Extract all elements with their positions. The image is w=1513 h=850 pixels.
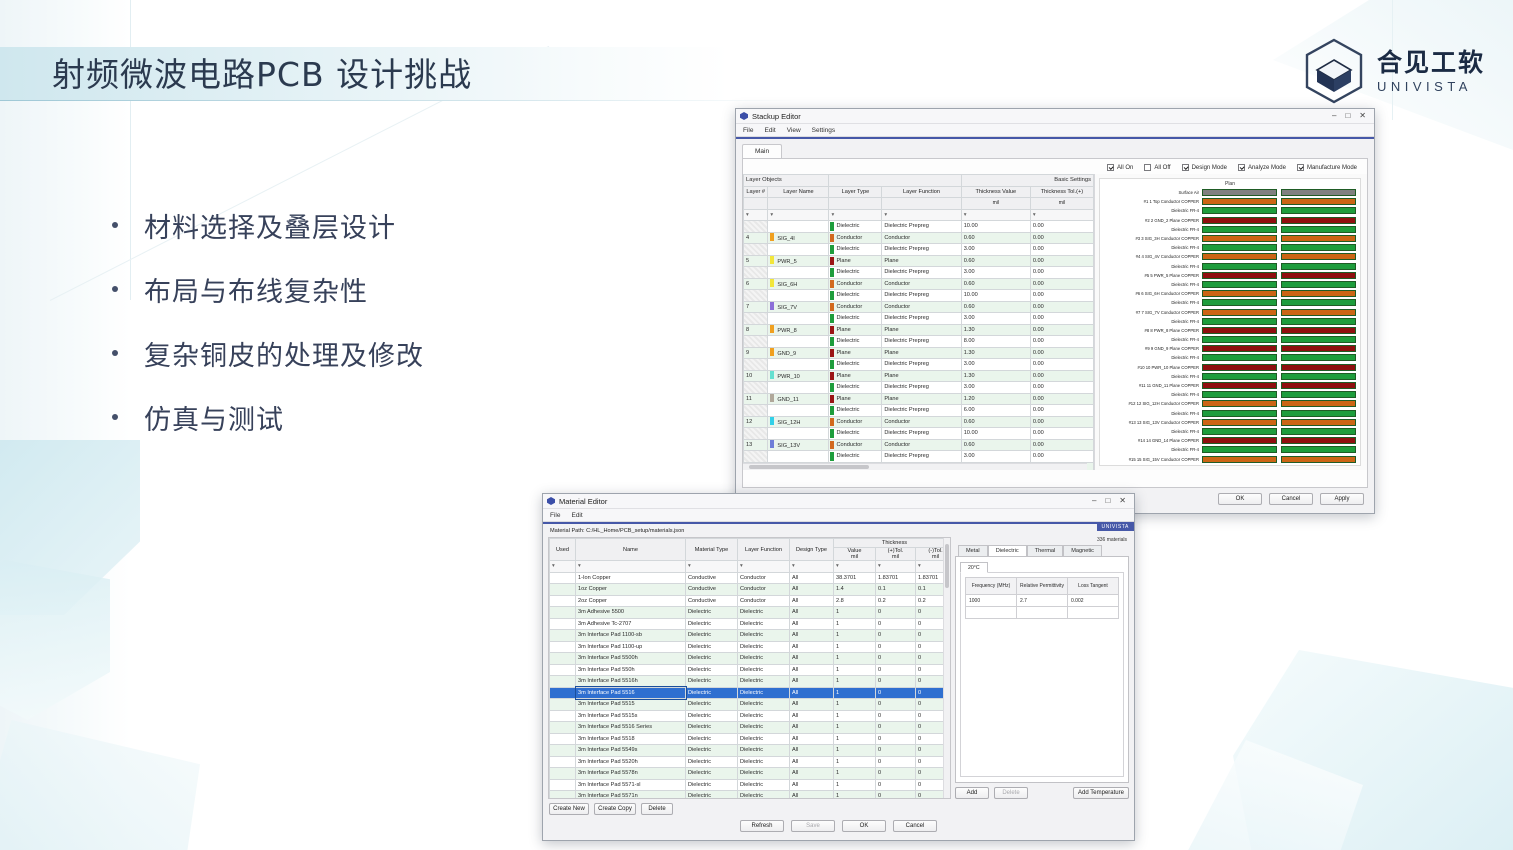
cell-layer-function: Conductor [882,416,961,428]
refresh-button[interactable]: Refresh [740,820,784,832]
cell-layer-name[interactable] [768,382,829,394]
table-row[interactable]: 9GND_9PlanePlane1.300.00 [744,347,1094,359]
apply-button[interactable]: Apply [1320,493,1364,505]
cell-thickness-tol[interactable]: 0.00 [1030,313,1093,325]
cell-used[interactable] [550,756,576,768]
cell-thickness-value[interactable]: 1.30 [961,324,1030,336]
close-icon[interactable]: ✕ [1119,497,1126,505]
cell-thickness-value[interactable]: 0.60 [961,439,1030,451]
add-temperature-button[interactable]: Add Temperature [1073,787,1129,799]
cell-material-name[interactable]: 1-Ion Copper [576,572,686,584]
cell-layer-type: Conductor [829,301,882,313]
material-list-buttons[interactable]: Create New Create Copy Delete [543,799,1134,815]
column-header-tol-plus[interactable]: (+)Tol.mil [876,548,916,561]
mode-checkbox-row[interactable]: All On All Off Design Mode Analyze Mode … [743,159,1367,174]
filter-cell[interactable]: ▾ [576,561,686,573]
checkbox-box-icon[interactable] [1238,164,1245,171]
cell-thickness-value[interactable]: 1 [834,768,876,780]
cell-used[interactable] [550,745,576,757]
filter-cell[interactable]: ▾ [876,561,916,573]
cell-used[interactable] [550,733,576,745]
filter-cell[interactable]: ▾ [834,561,876,573]
cell-thickness-value[interactable]: 1.30 [961,370,1030,382]
cell-tol-plus[interactable]: 0 [876,687,916,699]
property-empty-row[interactable] [966,607,1119,619]
cell-material-name[interactable]: 3m Interface Pad 5516 Series [576,722,686,734]
cell-thickness-tol[interactable]: 0.00 [1030,347,1093,359]
cell-thickness-tol[interactable]: 0.00 [1030,232,1093,244]
cell-material-name[interactable]: 3m Interface Pad 5516 [576,687,686,699]
cell-thickness-tol[interactable]: 0.00 [1030,416,1093,428]
column-header[interactable]: Thickness Tol.(+) [1030,186,1093,198]
preview-layer-row: #15 15 SIG_15V Conductor COPPER [1104,454,1356,463]
checkbox-design-mode[interactable]: Design Mode [1182,164,1227,171]
table-row[interactable]: 3m Interface Pad 5516hDielectricDielectr… [550,676,952,688]
cell-thickness-value[interactable]: 3.00 [961,382,1030,394]
property-cell-empty[interactable] [1068,607,1119,619]
cell-thickness-value[interactable]: 1 [834,676,876,688]
layer-table-hscrollbar[interactable] [743,463,1087,470]
table-row[interactable]: 3m Interface Pad 1100-upDielectricDielec… [550,641,952,653]
cancel-button[interactable]: Cancel [893,820,937,832]
table-row[interactable]: 3m Interface Pad 5515sDielectricDielectr… [550,710,952,722]
minimize-icon[interactable]: – [1092,497,1096,505]
cell-used[interactable] [550,572,576,584]
cell-used[interactable] [550,768,576,780]
stackup-menu-bar[interactable]: File Edit View Settings [736,124,1374,137]
property-cell-empty[interactable] [966,607,1017,619]
table-row[interactable]: 3m Interface Pad 5571-slDielectricDielec… [550,779,952,791]
cell-material-name[interactable]: 3m Interface Pad 5549s [576,745,686,757]
cell-layer-function: Dielectric [738,676,790,688]
filter-cell[interactable]: ▾ [744,209,768,221]
checkbox-manufacture-mode[interactable]: Manufacture Mode [1297,164,1357,171]
close-icon[interactable]: ✕ [1359,112,1366,120]
cell-layer-name[interactable] [768,244,829,256]
layer-table-container[interactable]: Layer ObjectsBasic SettingsLayer #Layer … [743,174,1095,470]
cell-thickness-value[interactable]: 1 [834,756,876,768]
cell-layer-name[interactable] [768,428,829,440]
cell-thickness-tol[interactable]: 0.00 [1030,255,1093,267]
table-row[interactable]: 3m Interface Pad 5578nDielectricDielectr… [550,768,952,780]
column-header-layer-function[interactable]: Layer Function [738,539,790,561]
table-row[interactable]: DielectricDielectric Prepreg3.000.00 [744,313,1094,325]
preview-layer-bar [1281,327,1356,334]
filter-cell[interactable]: ▾ [961,209,1030,221]
cell-tol-plus[interactable]: 0 [876,756,916,768]
property-cell-empty[interactable] [1017,607,1068,619]
cell-layer-type: Dielectric [829,359,882,371]
cell-tol-plus[interactable]: 0 [876,676,916,688]
table-row[interactable]: DielectricDielectric Prepreg3.000.00 [744,244,1094,256]
table-row[interactable]: 12SIG_12HConductorConductor0.600.00 [744,416,1094,428]
cell-thickness-value[interactable]: 6.00 [961,405,1030,417]
cell-layer-name[interactable] [768,267,829,279]
cell-layer-name[interactable]: SIG_13V [768,439,829,451]
table-row[interactable]: 3m Interface Pad 5516 SeriesDielectricDi… [550,722,952,734]
column-header[interactable]: Layer Function [882,186,961,198]
cell-thickness-value[interactable]: 1 [834,630,876,642]
cell-thickness-tol[interactable]: 0.00 [1030,278,1093,290]
cell-layer-name[interactable]: GND_9 [768,347,829,359]
tab-temperature-20c[interactable]: 20°C [960,562,988,573]
menu-settings[interactable]: Settings [812,127,836,134]
cell-thickness-tol[interactable]: 0.00 [1030,244,1093,256]
stackup-tab-strip[interactable]: Main [736,139,1374,158]
menu-view[interactable]: View [787,127,801,134]
cell-thickness-tol[interactable]: 0.00 [1030,267,1093,279]
cell-layer-name[interactable] [768,359,829,371]
property-cell[interactable]: 1000 [966,595,1017,607]
cell-thickness-tol[interactable]: 0.00 [1030,451,1093,463]
cell-layer-name[interactable] [768,451,829,463]
cell-thickness-value[interactable]: 10.00 [961,290,1030,302]
create-new-button[interactable]: Create New [549,803,589,815]
table-row[interactable]: 11GND_11PlanePlane1.200.00 [744,393,1094,405]
table-row[interactable]: DielectricDielectric Prepreg3.000.00 [744,359,1094,371]
cell-material-name[interactable]: 3m Interface Pad 1100-sb [576,630,686,642]
table-row[interactable]: DielectricDielectric Prepreg3.000.00 [744,267,1094,279]
column-header-design-type[interactable]: Design Type [790,539,834,561]
cell-layer-name[interactable]: PWR_5 [768,255,829,267]
property-column-header: Relative Permittivity [1017,578,1068,595]
cell-material-name[interactable]: 3m Interface Pad 5500h [576,653,686,665]
preview-layer-bar [1281,217,1356,224]
cell-used[interactable] [550,607,576,619]
cell-thickness-tol[interactable]: 0.00 [1030,439,1093,451]
tab-main[interactable]: Main [742,144,782,158]
cell-layer-function: Dielectric Prepreg [882,221,961,233]
cell-thickness-value[interactable]: 1.30 [961,347,1030,359]
cell-layer-function: Plane [882,370,961,382]
cell-tol-plus[interactable]: 0 [876,710,916,722]
tab-dielectric[interactable]: Dielectric [988,545,1027,556]
cell-material-name[interactable]: 3m Interface Pad 5518 [576,733,686,745]
cell-tol-plus[interactable]: 0 [876,653,916,665]
table-row[interactable]: 3m Interface Pad 5516DielectricDielectri… [550,687,952,699]
tab-magnetic[interactable]: Magnetic [1063,545,1102,556]
cell-thickness-tol[interactable]: 0.00 [1030,382,1093,394]
cell-tol-plus[interactable]: 0 [876,768,916,780]
cell-thickness-tol[interactable]: 0.00 [1030,324,1093,336]
filter-cell[interactable]: ▾ [1030,209,1093,221]
table-row[interactable]: 2oz CopperConductiveConductorAll2.80.20.… [550,595,952,607]
column-header[interactable]: Layer Type [829,186,882,198]
column-header[interactable]: Thickness Value [961,186,1030,198]
table-row[interactable]: 1oz CopperConductiveConductorAll1.40.10.… [550,584,952,596]
cell-thickness-value[interactable]: 1 [834,745,876,757]
preview-layer-bar [1202,373,1277,380]
property-cell[interactable]: 2.7 [1017,595,1068,607]
cell-tol-plus[interactable]: 0.2 [876,595,916,607]
table-row[interactable]: 5PWR_5PlanePlane0.600.00 [744,255,1094,267]
table-row[interactable]: 6SIG_6HConductorConductor0.600.00 [744,278,1094,290]
property-pane-buttons[interactable]: Add Delete Add Temperature [955,783,1129,799]
column-header[interactable]: Layer Name [768,186,829,198]
table-row[interactable]: 3m Interface Pad 5520hDielectricDielectr… [550,756,952,768]
cell-material-name[interactable]: 3m Interface Pad 5515 [576,699,686,711]
minimize-icon[interactable]: – [1332,112,1336,120]
menu-edit[interactable]: Edit [571,512,582,519]
material-footer-buttons[interactable]: Refresh Save OK Cancel [543,815,1134,832]
property-cell[interactable]: 0.002 [1068,595,1119,607]
stackup-editor-window[interactable]: Stackup Editor – □ ✕ File Edit View Sett… [735,108,1375,514]
cell-thickness-value[interactable]: 1 [834,664,876,676]
cell-thickness-tol[interactable]: 0.00 [1030,336,1093,348]
cell-material-name[interactable]: 2oz Copper [576,595,686,607]
table-row[interactable]: DielectricDielectric Prepreg10.000.00 [744,221,1094,233]
table-row[interactable]: DielectricDielectric Prepreg10.000.00 [744,428,1094,440]
checkbox-box-icon[interactable] [1297,164,1304,171]
filter-cell[interactable]: ▾ [738,561,790,573]
cell-material-name[interactable]: 3m Interface Pad 5578n [576,768,686,780]
cell-thickness-value[interactable]: 8.00 [961,336,1030,348]
tab-thermal[interactable]: Thermal [1027,545,1064,556]
cell-used[interactable] [550,653,576,665]
cell-used[interactable] [550,618,576,630]
checkbox-box-icon[interactable] [1182,164,1189,171]
cell-tol-plus[interactable]: 0 [876,779,916,791]
stackup-title-bar[interactable]: Stackup Editor – □ ✕ [736,109,1374,124]
menu-file[interactable]: File [743,127,753,134]
cell-tol-plus[interactable]: 0 [876,733,916,745]
column-header-value[interactable]: Valuemil [834,548,876,561]
dielectric-property-table[interactable]: Frequency (MHz)Relative PermittivityLoss… [965,577,1119,619]
cell-thickness-value[interactable]: 1 [834,722,876,734]
cell-material-name[interactable]: 3m Interface Pad 5516h [576,676,686,688]
cell-thickness-value[interactable]: 10.00 [961,428,1030,440]
cell-material-name[interactable]: 3m Interface Pad 5515s [576,710,686,722]
cell-thickness-value[interactable]: 1.4 [834,584,876,596]
cell-tol-plus[interactable]: 0 [876,641,916,653]
table-row[interactable]: DielectricDielectric Prepreg6.000.00 [744,405,1094,417]
cell-thickness-tol[interactable]: 0.00 [1030,290,1093,302]
cell-thickness-value[interactable]: 10.00 [961,221,1030,233]
cell-layer-name[interactable]: GND_11 [768,393,829,405]
property-row[interactable]: 10002.70.002 [966,595,1119,607]
cell-used[interactable] [550,791,576,800]
cell-material-name[interactable]: 3m Adhesive Tc-2707 [576,618,686,630]
ok-button[interactable]: OK [1218,493,1262,505]
cell-layer-name[interactable] [768,336,829,348]
checkbox-analyze-mode[interactable]: Analyze Mode [1238,164,1286,171]
cell-used[interactable] [550,722,576,734]
maximize-icon[interactable]: □ [1345,112,1350,120]
table-row[interactable]: 3m Interface Pad 5549sDielectricDielectr… [550,745,952,757]
column-header[interactable]: Layer # [744,186,768,198]
table-row[interactable]: 1-Ion CopperConductiveConductorAll38.370… [550,572,952,584]
app-icon [547,497,555,505]
cell-thickness-value[interactable]: 0.60 [961,416,1030,428]
cell-tol-plus[interactable]: 0.1 [876,584,916,596]
cell-used[interactable] [550,641,576,653]
table-row[interactable]: 3m Interface Pad 5500hDielectricDielectr… [550,653,952,665]
cancel-button[interactable]: Cancel [1269,493,1313,505]
table-row[interactable]: 3m Adhesive 5500DielectricDielectricAll1… [550,607,952,619]
cell-used[interactable] [550,584,576,596]
checkbox-box-icon[interactable] [1107,164,1114,171]
cell-layer-name[interactable]: SIG_4I [768,232,829,244]
cell-tol-plus[interactable]: 0 [876,630,916,642]
cell-tol-plus[interactable]: 0 [876,791,916,800]
material-title-bar[interactable]: Material Editor – □ ✕ [543,494,1134,509]
cell-thickness-tol[interactable]: 0.00 [1030,370,1093,382]
cell-thickness-value[interactable]: 0.60 [961,232,1030,244]
cell-thickness-value[interactable]: 1 [834,607,876,619]
preview-layer-row: #3 3 SIG_3H Conductor COPPER [1104,234,1356,243]
bullet-text: 复杂铜皮的处理及修改 [144,334,424,373]
column-header-used[interactable]: Used [550,539,576,561]
table-row[interactable]: 4SIG_4IConductorConductor0.600.00 [744,232,1094,244]
material-table-vscrollbar[interactable] [943,538,950,798]
cell-thickness-tol[interactable]: 0.00 [1030,359,1093,371]
cell-thickness-value[interactable]: 1 [834,791,876,800]
cell-thickness-value[interactable]: 3.00 [961,451,1030,463]
checkbox-all-off[interactable]: All Off [1144,164,1170,171]
cell-layer-name[interactable]: SIG_12H [768,416,829,428]
column-header-name[interactable]: Name [576,539,686,561]
cell-used[interactable] [550,710,576,722]
tab-metal[interactable]: Metal [958,545,988,556]
material-editor-window[interactable]: Material Editor – □ ✕ File Edit UNIVISTA… [542,493,1135,841]
ok-button[interactable]: OK [842,820,886,832]
cell-thickness-value[interactable]: 1 [834,687,876,699]
cell-material-name[interactable]: 3m Adhesive 5500 [576,607,686,619]
create-copy-button[interactable]: Create Copy [594,803,636,815]
cell-thickness-value[interactable]: 3.00 [961,359,1030,371]
table-row[interactable]: DielectricDielectric Prepreg10.000.00 [744,290,1094,302]
cell-tol-plus[interactable]: 0 [876,722,916,734]
cell-layer-name[interactable] [768,290,829,302]
table-row[interactable]: DielectricDielectric Prepreg8.000.00 [744,336,1094,348]
material-table-container[interactable]: UsedNameMaterial TypeLayer FunctionDesig… [548,537,951,799]
delete-material-button[interactable]: Delete [641,803,673,815]
property-tab-strip[interactable]: Metal Dielectric Thermal Magnetic [955,545,1129,556]
cell-thickness-value[interactable]: 1 [834,710,876,722]
cell-thickness-value[interactable]: 1.20 [961,393,1030,405]
filter-cell[interactable]: ▾ [790,561,834,573]
cell-layer-name[interactable] [768,313,829,325]
cell-thickness-tol[interactable]: 0.00 [1030,428,1093,440]
cell-tol-plus[interactable]: 0 [876,618,916,630]
maximize-icon[interactable]: □ [1105,497,1110,505]
menu-edit[interactable]: Edit [764,127,775,134]
table-row[interactable]: 13SIG_13VConductorConductor0.600.00 [744,439,1094,451]
cell-material-name[interactable]: 1oz Copper [576,584,686,596]
cell-layer-name[interactable]: PWR_10 [768,370,829,382]
cell-used[interactable] [550,595,576,607]
filter-cell[interactable]: ▾ [882,209,961,221]
table-row[interactable]: 10PWR_10PlanePlane1.300.00 [744,370,1094,382]
cell-thickness-value[interactable]: 1 [834,733,876,745]
cell-thickness-value[interactable]: 3.00 [961,313,1030,325]
material-menu-bar[interactable]: File Edit [543,509,1134,522]
cell-tol-plus[interactable]: 0 [876,699,916,711]
cell-layer-name[interactable]: SIG_6H [768,278,829,290]
cell-material-type: Dielectric [686,756,738,768]
cell-tol-plus[interactable]: 1.83701 [876,572,916,584]
cell-thickness-tol[interactable]: 0.00 [1030,393,1093,405]
layer-table[interactable]: Layer ObjectsBasic SettingsLayer #Layer … [743,174,1094,470]
cell-thickness-value[interactable]: 0.60 [961,301,1030,313]
cell-layer-name[interactable] [768,221,829,233]
cell-material-name[interactable]: 3m Interface Pad 550h [576,664,686,676]
cell-thickness-value[interactable]: 1 [834,779,876,791]
filter-cell[interactable]: ▾ [686,561,738,573]
cell-thickness-value[interactable]: 3.00 [961,244,1030,256]
cell-layer-name[interactable] [768,405,829,417]
table-row[interactable]: 3m Adhesive Tc-2707DielectricDielectricA… [550,618,952,630]
preview-layer-label: Dielectric FR-4 [1104,282,1202,287]
cell-thickness-tol[interactable]: 0.00 [1030,301,1093,313]
table-row[interactable]: 3m Interface Pad 5518DielectricDielectri… [550,733,952,745]
filter-cell[interactable]: ▾ [768,209,829,221]
cell-used[interactable] [550,699,576,711]
delete-button[interactable]: Delete [994,787,1028,799]
checkbox-all-on[interactable]: All On [1107,164,1133,171]
cell-tol-plus[interactable]: 0 [876,664,916,676]
cell-design-type: All [790,779,834,791]
table-row[interactable]: 3m Interface Pad 5571nDielectricDielectr… [550,791,952,800]
material-filter-row[interactable]: ▾▾▾▾▾▾▾▾▾ [550,561,952,573]
table-row[interactable]: 3m Interface Pad 550hDielectricDielectri… [550,664,952,676]
table-row[interactable]: 8PWR_8PlanePlane1.300.00 [744,324,1094,336]
cell-used[interactable] [550,676,576,688]
cell-thickness-value[interactable]: 1 [834,618,876,630]
filter-cell[interactable]: ▾ [550,561,576,573]
cell-tol-plus[interactable]: 0 [876,607,916,619]
cell-used[interactable] [550,664,576,676]
cell-used[interactable] [550,779,576,791]
cell-thickness-value[interactable]: 1 [834,699,876,711]
cell-material-name[interactable]: 3m Interface Pad 1100-up [576,641,686,653]
checkbox-box-icon[interactable] [1144,164,1151,171]
table-row[interactable]: DielectricDielectric Prepreg3.000.00 [744,382,1094,394]
layer-color-swatch [770,394,774,402]
menu-file[interactable]: File [550,512,560,519]
table-row[interactable]: DielectricDielectric Prepreg3.000.00 [744,451,1094,463]
cell-used[interactable] [550,630,576,642]
cell-thickness-value[interactable]: 1 [834,641,876,653]
cell-thickness-value[interactable]: 2.8 [834,595,876,607]
preview-layer-bar [1202,428,1277,435]
save-button[interactable]: Save [791,820,835,832]
cell-material-type: Dielectric [686,664,738,676]
material-table[interactable]: UsedNameMaterial TypeLayer FunctionDesig… [549,538,951,799]
table-row[interactable]: 3m Interface Pad 1100-sbDielectricDielec… [550,630,952,642]
cell-tol-plus[interactable]: 0 [876,745,916,757]
layer-filter-row[interactable]: ▾▾▾▾▾▾ [744,209,1094,221]
cell-layer-name[interactable]: PWR_8 [768,324,829,336]
cell-thickness-value[interactable]: 0.60 [961,255,1030,267]
filter-cell[interactable]: ▾ [829,209,882,221]
cell-thickness-tol[interactable]: 0.00 [1030,221,1093,233]
cell-thickness-value[interactable]: 1 [834,653,876,665]
cell-material-name[interactable]: 3m Interface Pad 5571-sl [576,779,686,791]
table-row[interactable]: 7SIG_7VConductorConductor0.600.00 [744,301,1094,313]
table-row[interactable]: 3m Interface Pad 5515DielectricDielectri… [550,699,952,711]
cell-thickness-tol[interactable]: 0.00 [1030,405,1093,417]
add-button[interactable]: Add [955,787,989,799]
cell-material-name[interactable]: 3m Interface Pad 5571n [576,791,686,800]
cell-thickness-value[interactable]: 38.3701 [834,572,876,584]
cell-used[interactable] [550,687,576,699]
cell-layer-name[interactable]: SIG_7V [768,301,829,313]
cell-thickness-value[interactable]: 0.60 [961,278,1030,290]
column-header-material-type[interactable]: Material Type [686,539,738,561]
cell-material-name[interactable]: 3m Interface Pad 5520h [576,756,686,768]
cell-thickness-value[interactable]: 3.00 [961,267,1030,279]
